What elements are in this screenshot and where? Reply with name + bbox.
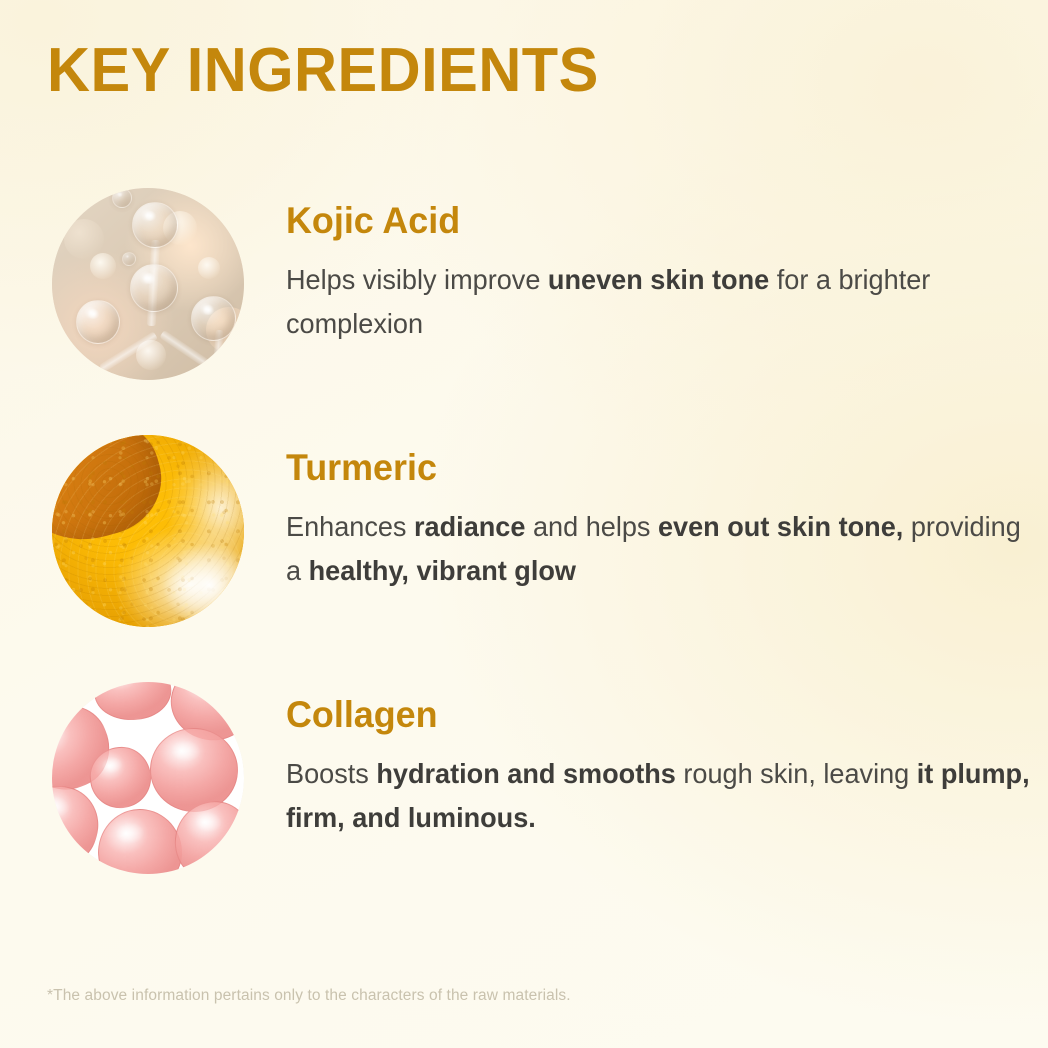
- footnote-disclaimer: *The above information pertains only to …: [47, 986, 571, 1006]
- turmeric-powder-photo: [52, 435, 244, 627]
- bokeh-highlight: [64, 219, 104, 259]
- molecule-atom: [132, 202, 178, 248]
- collagen-capsule: [92, 682, 174, 724]
- ingredient-row-kojic-acid: Kojic Acid Helps visibly improve uneven …: [0, 188, 1048, 380]
- bokeh-highlight: [90, 253, 116, 279]
- collagen-capsule: [96, 807, 185, 874]
- ingredient-row-collagen: Collagen Boosts hydration and smooths ro…: [0, 682, 1048, 874]
- molecule-atom: [76, 300, 120, 344]
- kojic-acid-molecule-photo: [52, 188, 244, 380]
- ingredient-name: Collagen: [286, 694, 1025, 736]
- ingredient-description: Helps visibly improve uneven skin tone f…: [286, 258, 1037, 346]
- collagen-capsules-photo: [52, 682, 244, 874]
- white-surface-area: [133, 516, 244, 627]
- ingredient-text-kojic-acid: Kojic Acid Helps visibly improve uneven …: [286, 188, 1048, 346]
- key-ingredients-poster: KEY INGREDIENTS: [0, 0, 1048, 1048]
- ingredient-text-turmeric: Turmeric Enhances radiance and helps eve…: [286, 435, 1048, 593]
- collagen-capsule: [147, 725, 241, 815]
- molecule-background: [52, 188, 244, 380]
- molecule-atom: [112, 188, 132, 208]
- ingredient-text-collagen: Collagen Boosts hydration and smooths ro…: [286, 682, 1048, 840]
- turmeric-background: [52, 435, 244, 627]
- ingredient-description: Boosts hydration and smooths rough skin,…: [286, 752, 1037, 840]
- page-title: KEY INGREDIENTS: [47, 37, 599, 105]
- collagen-background: [52, 682, 244, 874]
- bokeh-highlight: [198, 257, 220, 279]
- molecule-atom: [130, 264, 178, 312]
- molecule-atom: [191, 296, 236, 341]
- ingredient-row-turmeric: Turmeric Enhances radiance and helps eve…: [0, 435, 1048, 627]
- ingredient-description: Enhances radiance and helps even out ski…: [286, 505, 1037, 593]
- ingredient-name: Kojic Acid: [286, 200, 1025, 242]
- molecule-atom: [122, 252, 136, 266]
- ingredient-name: Turmeric: [286, 447, 1025, 489]
